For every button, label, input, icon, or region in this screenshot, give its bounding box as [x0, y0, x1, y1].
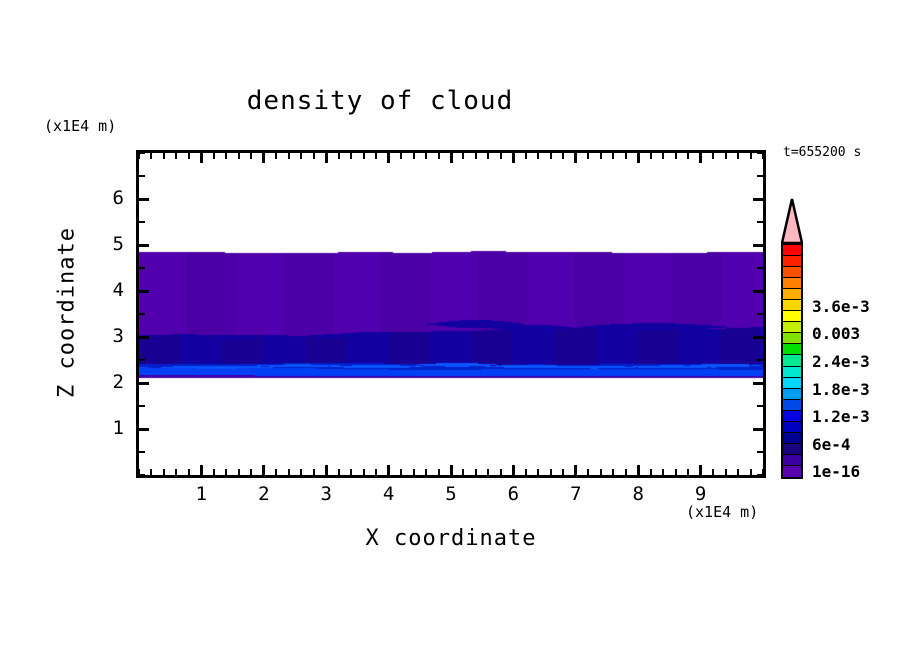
x-axis-minor-tick [562, 469, 564, 475]
x-axis-major-tick [574, 465, 577, 475]
colorbar-band [783, 256, 801, 267]
x-axis-minor-tick-top [625, 153, 627, 159]
x-axis-minor-tick-top [737, 153, 739, 159]
x-tick-label: 2 [244, 483, 284, 505]
x-axis-minor-tick-top [150, 153, 152, 159]
x-axis-title: X coordinate [136, 526, 766, 551]
colorbar-tick-label: 1e-16 [812, 462, 860, 481]
x-axis-minor-tick [750, 469, 752, 475]
x-axis-minor-tick [462, 469, 464, 475]
x-axis-minor-tick-top [487, 153, 489, 159]
x-axis-minor-tick-top [425, 153, 427, 159]
y-tick-label: 6 [94, 187, 124, 209]
colorbar-tick-label: 2.4e-3 [812, 352, 870, 371]
x-axis-minor-tick-top [400, 153, 402, 159]
x-axis-minor-tick [687, 469, 689, 475]
x-axis-major-tick [325, 465, 328, 475]
x-axis-major-tick [387, 465, 390, 475]
y-axis-major-tick-right [753, 244, 763, 247]
x-axis-minor-tick-top [725, 153, 727, 159]
y-axis-minor-tick [139, 405, 145, 407]
x-tick-label: 1 [181, 483, 221, 505]
colorbar-band [783, 378, 801, 389]
y-axis-minor-tick [139, 359, 145, 361]
x-tick-label: 6 [493, 483, 533, 505]
x-axis-minor-tick-top [462, 153, 464, 159]
x-axis-minor-tick-top [175, 153, 177, 159]
y-axis-major-tick [139, 428, 149, 431]
colorbar-band [783, 444, 801, 455]
x-axis-minor-tick [150, 469, 152, 475]
y-axis-minor-tick [139, 175, 145, 177]
x-tick-label: 3 [306, 483, 346, 505]
colorbar-band [783, 411, 801, 422]
y-tick-label: 4 [94, 279, 124, 301]
x-axis-unit-label: (x1E4 m) [686, 503, 758, 521]
x-axis-minor-tick [375, 469, 377, 475]
y-axis-major-tick-right [753, 382, 763, 385]
x-axis-minor-tick-top [188, 153, 190, 159]
colorbar-band [783, 400, 801, 411]
x-axis-minor-tick-top [612, 153, 614, 159]
page-title: density of cloud [0, 86, 760, 116]
x-axis-minor-tick-top [650, 153, 652, 159]
y-axis-minor-tick [139, 313, 145, 315]
x-tick-label: 9 [681, 483, 721, 505]
x-axis-minor-tick-top [163, 153, 165, 159]
y-tick-label: 5 [94, 233, 124, 255]
x-axis-major-tick [200, 465, 203, 475]
x-axis-minor-tick-top [500, 153, 502, 159]
x-axis-minor-tick [188, 469, 190, 475]
x-axis-minor-tick-top [213, 153, 215, 159]
x-tick-label: 4 [369, 483, 409, 505]
colorbar-band [783, 433, 801, 444]
y-tick-label: 2 [94, 371, 124, 393]
x-axis-minor-tick-top [275, 153, 277, 159]
x-axis-minor-tick [275, 469, 277, 475]
colorbar-band [783, 422, 801, 433]
colorbar-band [783, 367, 801, 378]
colorbar-overflow-cap [781, 198, 803, 244]
x-axis-major-tick [262, 465, 265, 475]
x-axis-minor-tick [725, 469, 727, 475]
x-axis-minor-tick [350, 469, 352, 475]
y-axis-major-tick [139, 382, 149, 385]
x-axis-minor-tick [250, 469, 252, 475]
x-axis-major-tick [637, 465, 640, 475]
x-axis-major-tick-top [262, 153, 265, 163]
y-axis-minor-tick-right [757, 405, 763, 407]
x-tick-label: 7 [556, 483, 596, 505]
x-axis-minor-tick [238, 469, 240, 475]
x-axis-major-tick-top [699, 153, 702, 163]
colorbar-tick-label: 1.8e-3 [812, 380, 870, 399]
y-axis-major-tick-right [753, 336, 763, 339]
x-axis-minor-tick [438, 469, 440, 475]
plot-area[interactable] [136, 150, 766, 478]
x-axis-minor-tick-top [375, 153, 377, 159]
x-axis-minor-tick-top [537, 153, 539, 159]
x-axis-minor-tick-top [475, 153, 477, 159]
x-axis-minor-tick [600, 469, 602, 475]
x-axis-minor-tick [712, 469, 714, 475]
colorbar-band [783, 311, 801, 322]
figure-canvas: density of cloud (x1E4 m) t=655200 s 123… [0, 0, 904, 654]
y-axis-minor-tick [139, 221, 145, 223]
colorbar-band [783, 466, 801, 477]
x-axis-minor-tick [537, 469, 539, 475]
x-axis-minor-tick [500, 469, 502, 475]
x-axis-major-tick-top [325, 153, 328, 163]
x-axis-minor-tick [475, 469, 477, 475]
x-axis-minor-tick [400, 469, 402, 475]
x-axis-major-tick-top [200, 153, 203, 163]
colorbar-band [783, 322, 801, 333]
y-axis-title: Z coordinate [55, 223, 80, 403]
x-tick-label: 5 [431, 483, 471, 505]
colorbar-band [783, 333, 801, 344]
x-axis-minor-tick-top [525, 153, 527, 159]
x-axis-minor-tick [425, 469, 427, 475]
x-axis-minor-tick-top [313, 153, 315, 159]
x-axis-major-tick-top [387, 153, 390, 163]
x-axis-minor-tick [737, 469, 739, 475]
x-axis-minor-tick-top [675, 153, 677, 159]
x-axis-minor-tick [313, 469, 315, 475]
x-axis-minor-tick [662, 469, 664, 475]
x-axis-minor-tick [675, 469, 677, 475]
y-axis-minor-tick-right [757, 175, 763, 177]
x-axis-major-tick [512, 465, 515, 475]
colorbar-band [783, 344, 801, 355]
x-axis-major-tick-top [637, 153, 640, 163]
x-axis-minor-tick [650, 469, 652, 475]
x-axis-minor-tick [213, 469, 215, 475]
x-axis-minor-tick [163, 469, 165, 475]
x-axis-minor-tick-top [550, 153, 552, 159]
colorbar-tick-label: 1.2e-3 [812, 407, 870, 426]
colorbar-band [783, 389, 801, 400]
colorbar-band [783, 278, 801, 289]
y-axis-minor-tick [139, 451, 145, 453]
x-axis-major-tick-top [450, 153, 453, 163]
x-axis-minor-tick-top [662, 153, 664, 159]
y-axis-minor-tick [139, 474, 145, 476]
y-axis-unit-label: (x1E4 m) [44, 117, 116, 135]
x-axis-major-tick-top [512, 153, 515, 163]
y-axis-major-tick-right [753, 198, 763, 201]
x-axis-minor-tick [550, 469, 552, 475]
x-axis-minor-tick [612, 469, 614, 475]
x-axis-minor-tick-top [587, 153, 589, 159]
y-axis-major-tick-right [753, 290, 763, 293]
x-axis-minor-tick-top [363, 153, 365, 159]
y-axis-minor-tick-right [757, 359, 763, 361]
x-axis-minor-tick-top [438, 153, 440, 159]
x-axis-minor-tick [413, 469, 415, 475]
y-axis-minor-tick-right [757, 474, 763, 476]
x-axis-minor-tick [175, 469, 177, 475]
y-axis-minor-tick-right [757, 313, 763, 315]
x-axis-major-tick [450, 465, 453, 475]
x-axis-minor-tick [625, 469, 627, 475]
y-axis-major-tick [139, 244, 149, 247]
y-axis-major-tick-right [753, 428, 763, 431]
x-axis-minor-tick-top [712, 153, 714, 159]
colorbar-band [783, 300, 801, 311]
x-axis-minor-tick-top [600, 153, 602, 159]
colorbar-tick-label: 3.6e-3 [812, 297, 870, 316]
x-axis-minor-tick-top [225, 153, 227, 159]
x-axis-minor-tick-top [750, 153, 752, 159]
x-axis-minor-tick [225, 469, 227, 475]
y-tick-label: 1 [94, 417, 124, 439]
x-axis-major-tick-top [574, 153, 577, 163]
colorbar-tick-label: 6e-4 [812, 435, 851, 454]
y-axis-minor-tick [139, 267, 145, 269]
y-tick-label: 3 [94, 325, 124, 347]
time-annotation: t=655200 s [783, 145, 861, 160]
x-axis-minor-tick-top [687, 153, 689, 159]
x-axis-minor-tick [300, 469, 302, 475]
y-axis-major-tick [139, 290, 149, 293]
x-axis-minor-tick-top [350, 153, 352, 159]
y-axis-minor-tick-right [757, 221, 763, 223]
y-axis-minor-tick [139, 152, 145, 154]
x-axis-major-tick [699, 465, 702, 475]
y-axis-minor-tick-right [757, 267, 763, 269]
x-axis-minor-tick [363, 469, 365, 475]
y-axis-major-tick [139, 336, 149, 339]
x-axis-minor-tick-top [288, 153, 290, 159]
x-axis-minor-tick [338, 469, 340, 475]
x-axis-minor-tick-top [250, 153, 252, 159]
y-axis-major-tick [139, 198, 149, 201]
colorbar-band [783, 245, 801, 256]
x-axis-minor-tick-top [300, 153, 302, 159]
colorbar-tick-label: 0.003 [812, 324, 860, 343]
colorbar-band [783, 289, 801, 300]
y-axis-minor-tick-right [757, 152, 763, 154]
x-axis-minor-tick-top [413, 153, 415, 159]
x-tick-label: 8 [618, 483, 658, 505]
x-axis-minor-tick-top [338, 153, 340, 159]
x-axis-minor-tick-top [238, 153, 240, 159]
x-axis-minor-tick [587, 469, 589, 475]
colorbar-band [783, 355, 801, 366]
x-axis-minor-tick-top [562, 153, 564, 159]
y-axis-minor-tick-right [757, 451, 763, 453]
x-axis-minor-tick [525, 469, 527, 475]
colorbar[interactable] [781, 243, 803, 479]
colorbar-band [783, 267, 801, 278]
colorbar-band [783, 455, 801, 466]
x-axis-minor-tick [288, 469, 290, 475]
contour-field [139, 153, 763, 475]
x-axis-minor-tick [487, 469, 489, 475]
